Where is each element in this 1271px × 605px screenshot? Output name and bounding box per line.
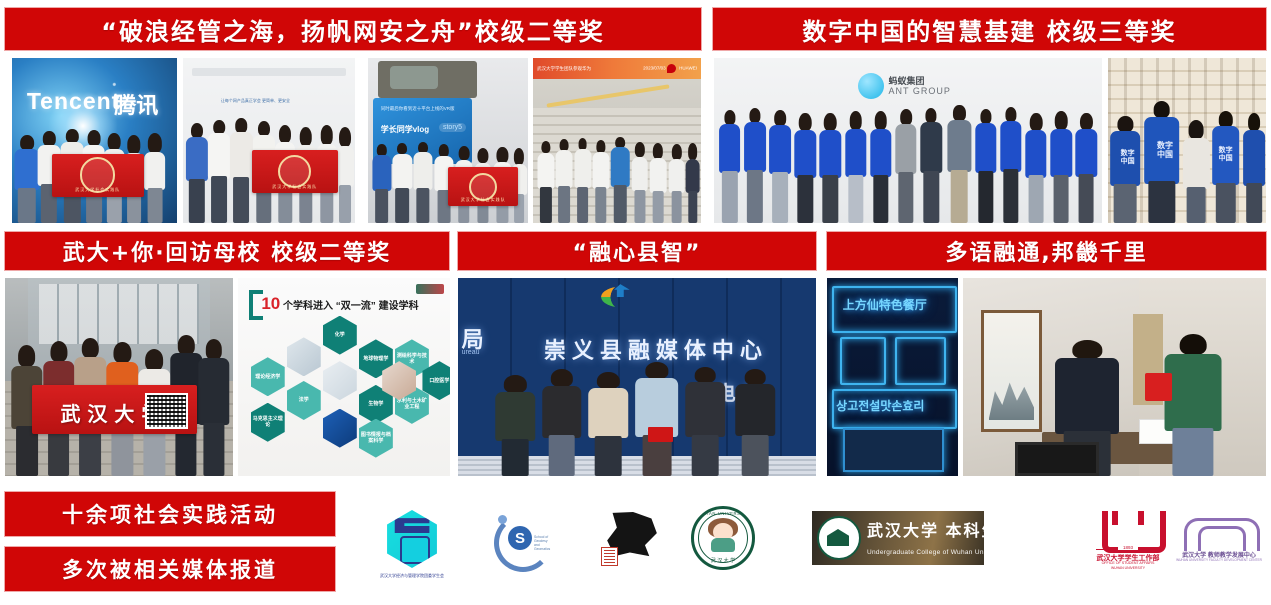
- photo-interview: [963, 278, 1266, 476]
- koreanshop-sign-kr: 상고전설맛손효리: [836, 397, 924, 414]
- osa-ding-icon: 1893 武汉大学学生工作部 OFFICE OF STUDENT AFFAIRS…: [1092, 509, 1164, 571]
- logo-wuhan-mascot: WUHAN UNIVERSITY 武 汉 大 学: [688, 503, 758, 573]
- hex-discipline-6: 图书情报与档案科学: [359, 419, 393, 458]
- esu-caption: 武汉大学经济与管理学院团委学生会: [372, 573, 452, 579]
- photo-alumni-content: 武汉大学: [5, 278, 233, 476]
- digitalchina-shirt-text-3: 数字中国: [1219, 147, 1233, 163]
- slide-hex-cluster: 理论经济学 马克思主义理论 法学 化学 地球物理学 生物学 图书情报与档案科学 …: [238, 278, 450, 476]
- hex-image-lab: [287, 337, 321, 376]
- photo-digital-china: 数字中国 数字中国 数字中国: [1108, 58, 1266, 223]
- vlog-screen-line1: 同时最后你看到近十平台上线的VR版: [381, 106, 455, 112]
- hex-image-blue: [323, 409, 357, 448]
- undergraduate-college-banner-icon: 武汉大学 本科生院 Undergraduate College of Wuhan…: [812, 511, 984, 565]
- uc-title-cn: 武汉大学 本科生院: [867, 523, 984, 540]
- photo-slide-content: 10 个学科进入 “双一流” 建设学科 理论经济学 马克思主义理论 法学 化学 …: [238, 278, 450, 476]
- photo-media-center: 崇义县融媒体中心 局 ureau 电台: [458, 278, 816, 476]
- gse-caption: School of Geodesy and Geomatics: [534, 535, 552, 551]
- vlog-screen-line2: 学长同学vlog: [381, 124, 429, 135]
- vlog-screen-chip: story5: [439, 123, 466, 132]
- photo-vlog-content: 同时最后你看到近十平台上线的VR版 学长同学vlog story5: [368, 58, 528, 223]
- koreanshop-door: [843, 428, 944, 472]
- ant-group-wall-logo: 蚂蚁集团 ANT GROUP: [858, 73, 951, 99]
- mediacenter-logo-icon: [601, 286, 647, 308]
- huawei-bar-right: 2023/07/03 HUAWEI: [643, 64, 697, 73]
- koreanshop-window-right: [895, 337, 946, 385]
- photo-interview-content: [963, 278, 1266, 476]
- ant-group-row: [714, 104, 1102, 223]
- banner-mid-right-text: 多语融通,邦畿千里: [945, 235, 1147, 267]
- banner-bottom-2-text: 多次被相关媒体报道: [62, 554, 278, 584]
- banner-mid-center-text: “融心县智”: [573, 235, 702, 267]
- wuhan-university-seal-icon: WUHAN UNIVERSITY 武 汉 大 学: [691, 506, 755, 570]
- banner-bottom-2: 多次被相关媒体报道: [5, 547, 335, 591]
- seal-stamp-icon: [601, 547, 618, 566]
- huawei-bar-left: 武汉大学学生团队参观华为: [537, 66, 591, 72]
- banner-top-left: “破浪经管之海，扬帆网安之舟”校级二等奖: [5, 8, 701, 50]
- banner-top-left-text: “破浪经管之海，扬帆网安之舟”校级二等奖: [101, 12, 605, 47]
- vlog-banner-flag: 武汉大学社会实践队: [448, 167, 518, 207]
- photo-huawei-content: 武汉大学学生团队参观华为 2023/07/03 HUAWEI: [533, 58, 701, 223]
- interview-people: [963, 322, 1266, 476]
- tencent-brand-cn: 腾讯: [114, 88, 158, 120]
- banner-mid-center: “融心县智”: [458, 232, 816, 270]
- banner-mid-right: 多语融通,邦畿千里: [827, 232, 1266, 270]
- photo-korean-shop-content: 上方仙特色餐厅 상고전설맛손효리: [827, 278, 958, 476]
- banner-top-right: 数字中国的智慧基建 校级三等奖: [713, 8, 1266, 50]
- tencent-banner-flag: 武汉大学社会实践队: [52, 154, 144, 197]
- logo-teaching-development-center: 武汉大学 教师教学发展中心 WUHAN UNIVERSITY FACULTY D…: [1172, 512, 1266, 572]
- osa-title-en2: WUHAN UNIVERSITY: [1092, 566, 1164, 570]
- huawei-bar-date: 2023/07/03: [643, 66, 666, 71]
- photo-alumni-return: 武汉大学: [5, 278, 233, 476]
- digitalchina-shirt-text-2: 数字中国: [1157, 141, 1173, 159]
- mediacenter-red-envelope: [648, 427, 673, 443]
- photo-vlog: 同时最后你看到近十平台上线的VR版 学长同学vlog story5: [368, 58, 528, 223]
- logo-office-student-affairs: 1893 武汉大学学生工作部 OFFICE OF STUDENT AFFAIRS…: [1085, 500, 1171, 580]
- esu-hexagon-icon: [383, 510, 441, 568]
- hex-discipline-2: 法学: [287, 381, 321, 420]
- corridor-flag-caption: 武汉大学社会实践队: [252, 184, 338, 190]
- ant-group-icon: [858, 73, 884, 99]
- tencent-flag-caption: 武汉大学社会实践队: [52, 187, 144, 193]
- calligraphy-chuang-icon: [597, 508, 667, 568]
- interview-red-banner-gift: [1145, 373, 1172, 401]
- photo-tencent: Tencent 腾讯: [12, 58, 177, 223]
- photo-tencent-content: Tencent 腾讯: [12, 58, 177, 223]
- tencent-brand-en: Tencent: [27, 88, 120, 115]
- banner-mid-left-text: 武大+你·回访母校 校级二等奖: [63, 235, 391, 267]
- gse-emblem-icon: S School of Geodesy and Geomatics: [488, 511, 552, 567]
- logo-esu: 武汉大学经济与管理学院团委学生会: [372, 500, 452, 578]
- hex-discipline-3: 化学: [323, 316, 357, 355]
- wuhan-seal-ring-bottom: 武 汉 大 学: [694, 557, 752, 564]
- alumni-flag: 武汉大学: [32, 385, 196, 435]
- wuhan-seal-ring-top: WUHAN UNIVERSITY: [694, 511, 752, 516]
- mediacenter-group: [458, 361, 816, 476]
- koreanshop-sign-cn: 上方仙特色餐厅: [843, 296, 927, 313]
- tdc-title-en: WUHAN UNIVERSITY FACULTY DEVELOPMENT CEN…: [1176, 558, 1262, 562]
- photo-ant-group: 蚂蚁集团 ANT GROUP: [714, 58, 1102, 223]
- vlog-flag-caption: 武汉大学社会实践队: [448, 197, 518, 203]
- photo-ant-group-content: 蚂蚁集团 ANT GROUP: [714, 58, 1102, 223]
- huawei-top-bar: 武汉大学学生团队参观华为 2023/07/03 HUAWEI: [533, 58, 701, 79]
- photo-corridor-content: 让每个网产品真正学会 更简单、更安全: [183, 58, 355, 223]
- logo-calligraphy: [592, 502, 672, 574]
- banner-bottom-1-text: 十余项社会实践活动: [62, 499, 278, 529]
- banner-mid-left: 武大+你·回访母校 校级二等奖: [5, 232, 449, 270]
- mediacenter-sign-sub-left-en: ureau: [462, 349, 480, 356]
- interview-framed-sign: [1015, 442, 1100, 476]
- ant-wall-en: ANT GROUP: [889, 86, 951, 96]
- hex-image-device: [323, 361, 357, 400]
- ant-wall-cn: 蚂蚁集团: [889, 76, 951, 86]
- uc-badge-icon: [817, 516, 861, 560]
- banner-top-right-text: 数字中国的智慧基建 校级三等奖: [802, 12, 1176, 47]
- osa-year: 1893: [1118, 545, 1138, 550]
- photo-korean-shop: 上方仙特色餐厅 상고전설맛손효리: [827, 278, 958, 476]
- alumni-flag-qr: [145, 393, 188, 430]
- photo-corridor: 让每个网产品真正学会 更简单、更安全: [183, 58, 355, 223]
- huawei-bar-brand: HUAWEI: [679, 66, 697, 71]
- wuhan-mascot-girl-icon: [708, 518, 738, 552]
- logo-undergraduate-college: 武汉大学 本科生院 Undergraduate College of Wuhan…: [810, 509, 986, 567]
- photo-digital-china-content: 数字中国 数字中国 数字中国: [1108, 58, 1266, 223]
- poster-root: “破浪经管之海，扬帆网安之舟”校级二等奖 数字中国的智慧基建 校级三等奖 Ten…: [0, 0, 1271, 605]
- logo-gse: S School of Geodesy and Geomatics: [478, 504, 562, 574]
- ant-group-wall-text: 蚂蚁集团 ANT GROUP: [889, 76, 951, 96]
- huawei-group: [533, 134, 701, 223]
- photo-discipline-slide: 10 个学科进入 “双一流” 建设学科 理论经济学 马克思主义理论 法学 化学 …: [238, 278, 450, 476]
- corridor-banner-flag: 武汉大学社会实践队: [252, 150, 338, 193]
- uc-title-en: Undergraduate College of Wuhan Universit…: [867, 549, 984, 556]
- banner-bottom-1: 十余项社会实践活动: [5, 492, 335, 536]
- hex-discipline-0: 理论经济学: [251, 357, 285, 396]
- corridor-wall-line: 让每个网产品真正学会 更简单、更安全: [221, 98, 290, 104]
- photo-huawei: 武汉大学学生团队参观华为 2023/07/03 HUAWEI: [533, 58, 701, 223]
- huawei-logo-icon: [667, 64, 676, 73]
- photo-media-center-content: 崇义县融媒体中心 局 ureau 电台: [458, 278, 816, 476]
- tdc-arch-icon: 武汉大学 教师教学发展中心 WUHAN UNIVERSITY FACULTY D…: [1176, 516, 1262, 568]
- digitalchina-shirt-text-1: 数字中国: [1121, 150, 1135, 166]
- hex-discipline-1: 马克思主义理论: [251, 403, 285, 442]
- osa-title-en1: OFFICE OF STUDENT AFFAIRS: [1092, 561, 1164, 565]
- uc-text-block: 武汉大学 本科生院 Undergraduate College of Wuhan…: [867, 517, 984, 559]
- koreanshop-window-left: [840, 337, 886, 385]
